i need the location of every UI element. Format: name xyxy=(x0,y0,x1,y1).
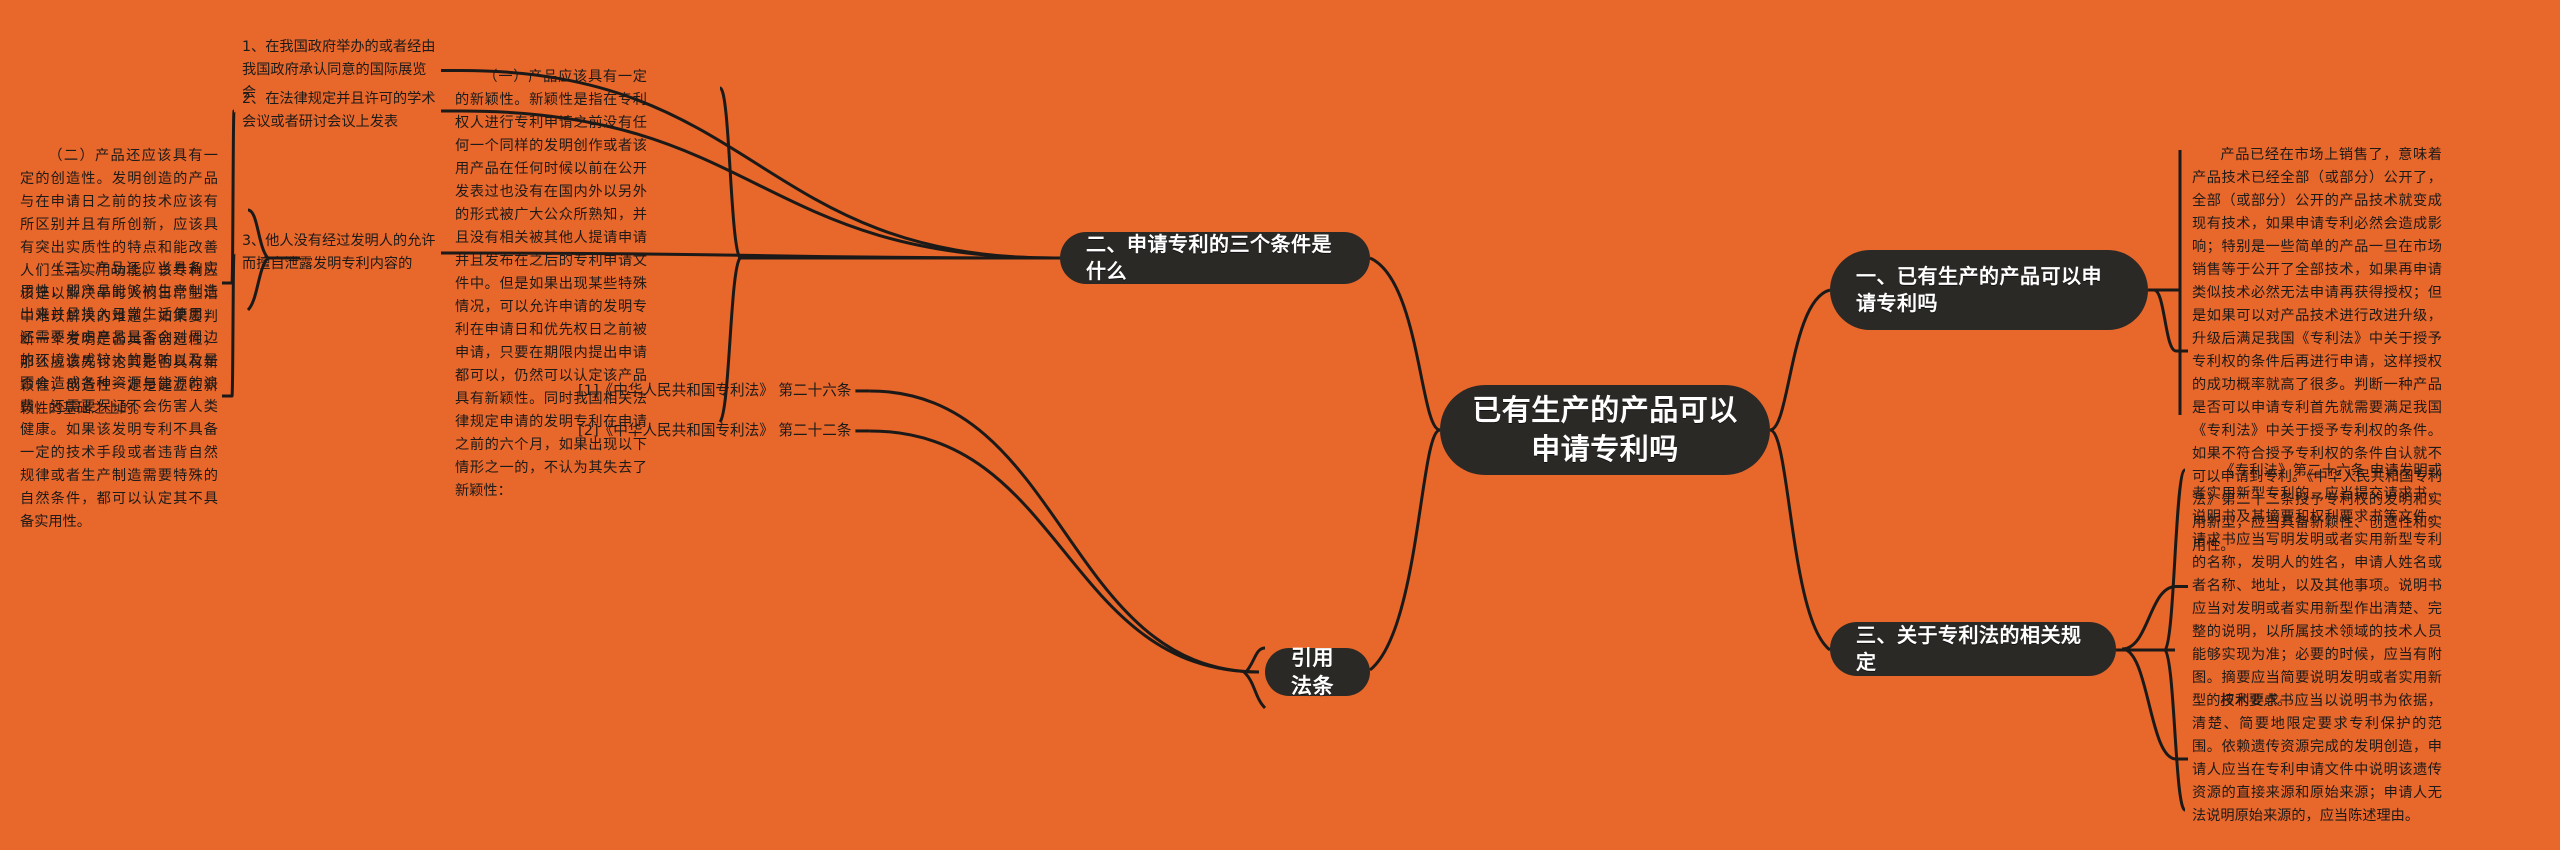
generated-connector xyxy=(2122,649,2176,759)
generated-connector xyxy=(2154,290,2176,351)
branch-node-right-bottom[interactable]: 三、关于专利法的相关规定 xyxy=(1830,622,2116,676)
generated-connector xyxy=(232,111,234,283)
generated-connector xyxy=(232,253,234,396)
paragraph-right-bottom-2: 权利要求书应当以说明书为依据，清楚、简要地限定要求专利保护的范围。依赖遗传资源完… xyxy=(2192,690,2442,828)
left-item-3: 3、他人没有经过发明人的允许而擅自泄露发明专利内容的 xyxy=(242,230,437,276)
generated-connector xyxy=(869,431,1259,672)
bracket-left-items xyxy=(720,88,740,422)
paragraph-left-detail-3: （三）产品还应当具备实用性，即产品能够被生产制造出来并且投入日常生活使用，还需要… xyxy=(20,258,218,534)
branch-node-right-bottom-label: 三、关于专利法的相关规定 xyxy=(1856,622,2090,676)
center-node-label: 已有生产的产品可以申请专利吗 xyxy=(1466,391,1744,469)
paragraph-right-bottom-1: 《专利法》第二十六条 申请发明或者实用新型专利的，应当提交请求书、说明书及其摘要… xyxy=(2192,460,2442,713)
branch-node-left-top-label: 二、申请专利的三个条件是什么 xyxy=(1086,231,1344,285)
generated-connector xyxy=(869,391,1259,672)
link-center-right-top xyxy=(1770,290,1830,430)
mindmap-canvas: 已有生产的产品可以申请专利吗 一、已有生产的产品可以申请专利吗 产品已经在市场上… xyxy=(0,0,2560,850)
generated-connector xyxy=(2122,587,2176,650)
bracket-right-bottom xyxy=(2165,470,2185,810)
branch-node-right-top-label: 一、已有生产的产品可以申请专利吗 xyxy=(1856,263,2122,317)
bracket-citations xyxy=(1245,648,1265,708)
center-node[interactable]: 已有生产的产品可以申请专利吗 xyxy=(1440,385,1770,475)
link-center-left-top xyxy=(1370,258,1440,430)
link-center-citations xyxy=(1370,430,1440,670)
citation-item-2: [2]《中华人民共和国专利法》 第二十二条 xyxy=(578,420,851,442)
branch-node-citations[interactable]: 引用法条 xyxy=(1265,648,1370,696)
branch-node-left-top[interactable]: 二、申请专利的三个条件是什么 xyxy=(1060,232,1370,284)
left-item-2: 2、在法律规定并且许可的学术会议或者研讨会议上发表 xyxy=(242,88,437,134)
branch-node-right-top[interactable]: 一、已有生产的产品可以申请专利吗 xyxy=(1830,250,2148,330)
link-center-right-bottom xyxy=(1770,430,1830,650)
citation-item-1: [1]《中华人民共和国专利法》 第二十六条 xyxy=(578,380,851,402)
branch-node-citations-label: 引用法条 xyxy=(1291,644,1344,701)
